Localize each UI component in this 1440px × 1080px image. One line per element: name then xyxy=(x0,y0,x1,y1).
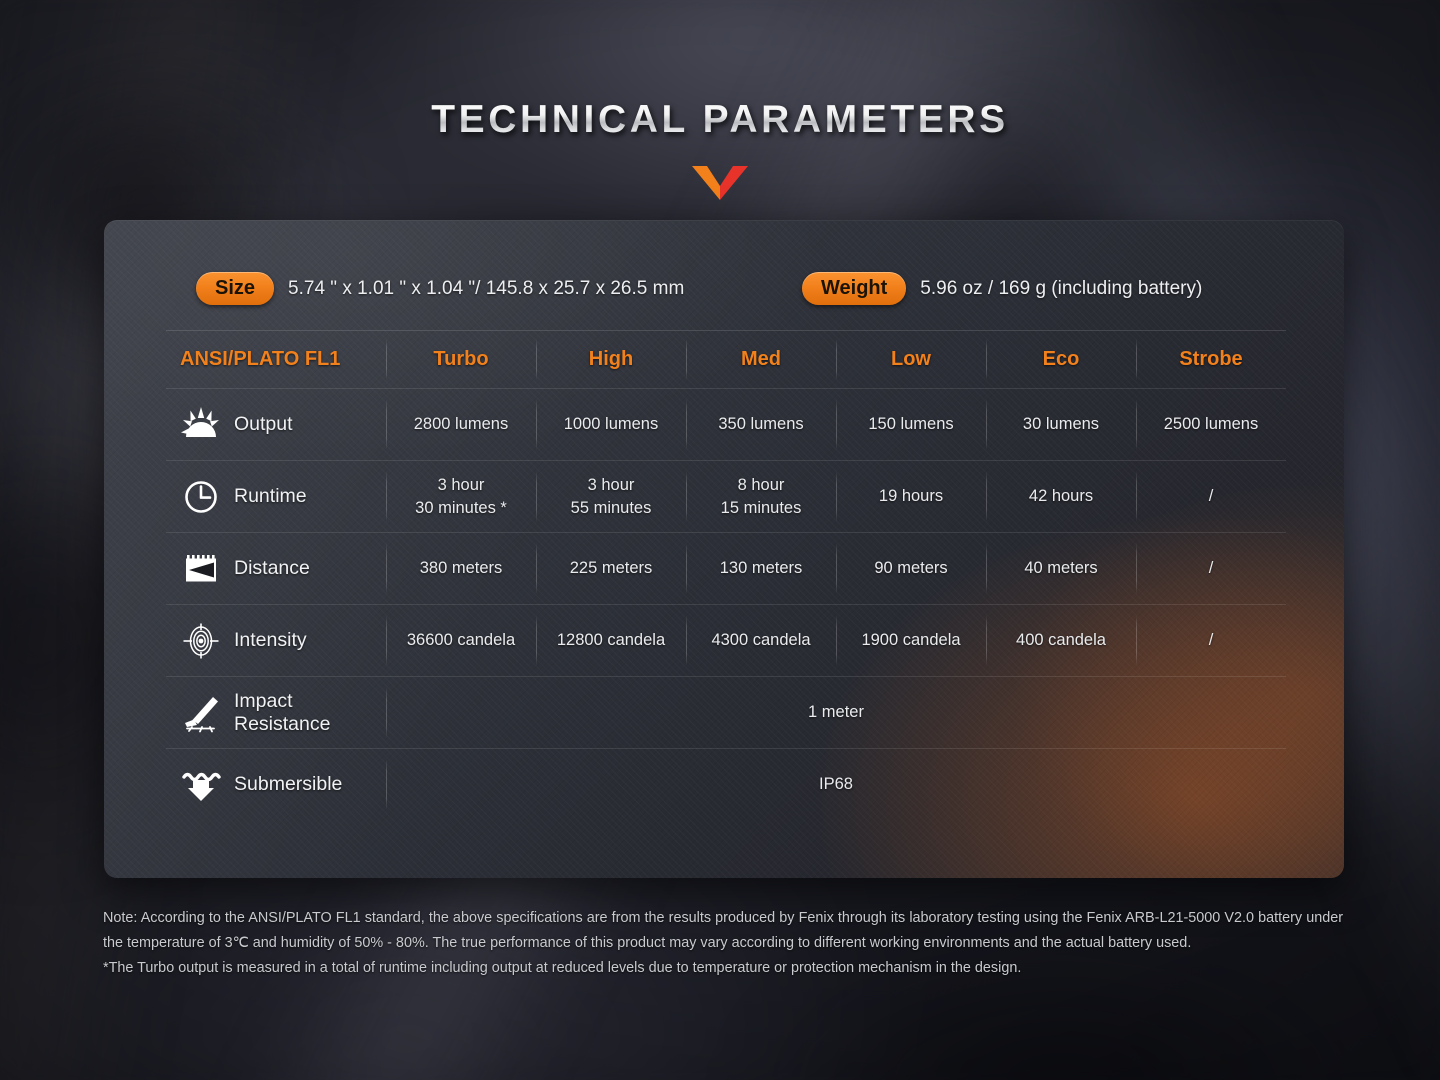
cell-distance-high: 225 meters xyxy=(536,533,686,605)
cell-distance-med: 130 meters xyxy=(686,533,836,605)
chevron-down-icon xyxy=(692,166,748,200)
cell-output-med: 350 lumens xyxy=(686,389,836,461)
row-label-output: Output xyxy=(166,389,386,461)
footnote-block: Note: According to the ANSI/PLATO FL1 st… xyxy=(103,906,1343,981)
row-label-text: Output xyxy=(234,413,293,436)
footnote-paragraph-2: *The Turbo output is measured in a total… xyxy=(103,956,1343,981)
cell-impact-value: 1 meter xyxy=(386,677,1286,749)
cell-output-turbo: 2800 lumens xyxy=(386,389,536,461)
sunburst-icon xyxy=(180,404,222,446)
cell-intensity-high: 12800 candela xyxy=(536,605,686,677)
cell-runtime-high: 3 hour55 minutes xyxy=(536,461,686,533)
header-high: High xyxy=(536,331,686,389)
water-drop-icon xyxy=(180,764,222,806)
row-label-distance: Distance xyxy=(166,533,386,605)
row-label-text: Runtime xyxy=(234,485,307,508)
cell-submersible-value: IP68 xyxy=(386,749,1286,821)
weight-group: Weight 5.96 oz / 169 g (including batter… xyxy=(802,272,1202,305)
page-header: TECHNICAL PARAMETERS xyxy=(0,98,1440,142)
cell-output-eco: 30 lumens xyxy=(986,389,1136,461)
row-label-text: Impact Resistance xyxy=(234,690,386,736)
table-row: Impact Resistance 1 meter xyxy=(166,677,1286,749)
header-med: Med xyxy=(686,331,836,389)
table-header-row: ANSI/PLATO FL1 Turbo High Med Low Eco St… xyxy=(166,331,1286,389)
cell-intensity-eco: 400 candela xyxy=(986,605,1136,677)
row-label-impact: Impact Resistance xyxy=(166,677,386,749)
row-label-text: Submersible xyxy=(234,773,342,796)
header-standard: ANSI/PLATO FL1 xyxy=(166,331,386,389)
cell-intensity-low: 1900 candela xyxy=(836,605,986,677)
page-title: TECHNICAL PARAMETERS xyxy=(431,98,1009,142)
table-row: Distance 380 meters 225 meters 130 meter… xyxy=(166,533,1286,605)
cell-output-strobe: 2500 lumens xyxy=(1136,389,1286,461)
table-row: Runtime 3 hour30 minutes * 3 hour55 minu… xyxy=(166,461,1286,533)
header-eco: Eco xyxy=(986,331,1136,389)
cell-distance-turbo: 380 meters xyxy=(386,533,536,605)
weight-pill: Weight xyxy=(802,272,906,305)
table-row: Output 2800 lumens 1000 lumens 350 lumen… xyxy=(166,389,1286,461)
header-turbo: Turbo xyxy=(386,331,536,389)
spec-card: Size 5.74 " x 1.01 " x 1.04 "/ 145.8 x 2… xyxy=(104,220,1344,878)
table-row: Submersible IP68 xyxy=(166,749,1286,821)
cell-runtime-eco: 42 hours xyxy=(986,461,1136,533)
cell-output-low: 150 lumens xyxy=(836,389,986,461)
cell-distance-eco: 40 meters xyxy=(986,533,1136,605)
cell-intensity-strobe: / xyxy=(1136,605,1286,677)
footnote-paragraph-1: Note: According to the ANSI/PLATO FL1 st… xyxy=(103,906,1343,956)
size-value: 5.74 " x 1.01 " x 1.04 "/ 145.8 x 25.7 x… xyxy=(288,278,684,300)
cell-runtime-turbo: 3 hour30 minutes * xyxy=(386,461,536,533)
row-label-text: Intensity xyxy=(234,629,307,652)
impact-drop-icon xyxy=(180,692,222,734)
cell-runtime-low: 19 hours xyxy=(836,461,986,533)
cell-intensity-turbo: 36600 candela xyxy=(386,605,536,677)
size-group: Size 5.74 " x 1.01 " x 1.04 "/ 145.8 x 2… xyxy=(196,272,684,305)
ruler-beam-icon xyxy=(180,548,222,590)
table-row: Intensity 36600 candela 12800 candela 43… xyxy=(166,605,1286,677)
cell-intensity-med: 4300 candela xyxy=(686,605,836,677)
row-label-intensity: Intensity xyxy=(166,605,386,677)
cell-distance-strobe: / xyxy=(1136,533,1286,605)
row-label-runtime: Runtime xyxy=(166,461,386,533)
dimensions-row: Size 5.74 " x 1.01 " x 1.04 "/ 145.8 x 2… xyxy=(104,272,1344,312)
row-label-text: Distance xyxy=(234,557,310,580)
cell-runtime-med: 8 hour15 minutes xyxy=(686,461,836,533)
header-strobe: Strobe xyxy=(1136,331,1286,389)
specifications-table: ANSI/PLATO FL1 Turbo High Med Low Eco St… xyxy=(166,330,1286,821)
header-low: Low xyxy=(836,331,986,389)
cell-output-high: 1000 lumens xyxy=(536,389,686,461)
cell-distance-low: 90 meters xyxy=(836,533,986,605)
page-root: TECHNICAL PARAMETERS Size 5.74 " x 1.01 … xyxy=(0,0,1440,1080)
clock-icon xyxy=(180,476,222,518)
row-label-submersible: Submersible xyxy=(166,749,386,821)
target-icon xyxy=(180,620,222,662)
size-pill: Size xyxy=(196,272,274,305)
weight-value: 5.96 oz / 169 g (including battery) xyxy=(920,278,1202,300)
cell-runtime-strobe: / xyxy=(1136,461,1286,533)
